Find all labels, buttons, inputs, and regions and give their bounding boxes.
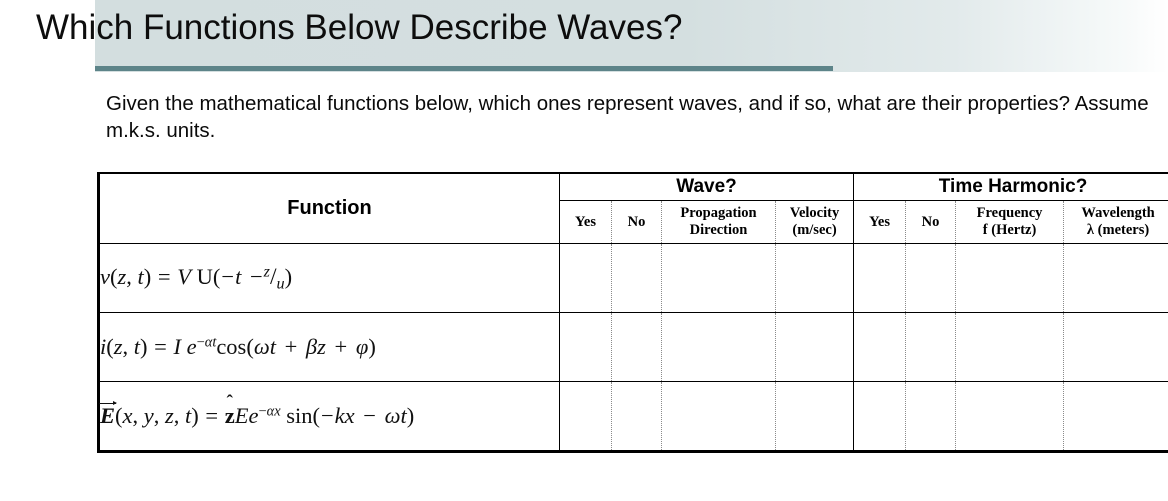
header-propagation-line1: Propagation (662, 205, 775, 222)
formula-damped-current: i(z, t) = I e−αtcos(ωt + βz + φ) (100, 334, 376, 359)
math-z-r2: z (114, 334, 123, 359)
hat-icon: ̂ (225, 393, 235, 412)
function-cell-1: v(z, t) = V U(−t −z/u) (99, 244, 560, 313)
header-propagation-line2: Direction (662, 222, 775, 239)
math-cos: cos (216, 334, 246, 359)
vector-arrow-icon (99, 403, 116, 404)
math-E-amp: E (235, 403, 249, 428)
cell-wave-no-3[interactable] (612, 382, 662, 452)
cell-th-frequency-2[interactable] (956, 313, 1064, 382)
cell-wave-yes-2[interactable] (560, 313, 612, 382)
header-th-no-line1: No (906, 214, 955, 231)
math-y: y (144, 403, 154, 428)
header-th-frequency: Frequency f (Hertz) (956, 201, 1064, 244)
table-row: i(z, t) = I e−αtcos(ωt + βz + φ) (99, 313, 1168, 382)
header-frequency-line2: f (Hertz) (956, 222, 1063, 239)
table-row: v(z, t) = V U(−t −z/u) (99, 244, 1168, 313)
cell-wave-direction-3[interactable] (662, 382, 776, 452)
cell-wave-yes-3[interactable] (560, 382, 612, 452)
math-exp-minus: − (197, 335, 205, 351)
header-wave-yes-line1: Yes (560, 214, 611, 231)
cell-th-yes-3[interactable] (854, 382, 906, 452)
math-phi: φ (356, 334, 368, 359)
intro-paragraph: Given the mathematical functions below, … (106, 90, 1151, 144)
math-plus-1: + (284, 334, 299, 359)
math-e-r3: e (249, 403, 259, 428)
math-minus-r3b: − (362, 403, 377, 428)
function-cell-3: E(x, y, z, t) = ̂zEe−αx sin(−kx − ωt) (99, 382, 560, 452)
cell-wave-direction-1[interactable] (662, 244, 776, 313)
cell-th-wavelength-3[interactable] (1064, 382, 1168, 452)
math-u-den: u (277, 274, 285, 292)
math-minus-2: − (249, 264, 264, 289)
cell-wave-direction-2[interactable] (662, 313, 776, 382)
math-minus-r3a: − (320, 403, 335, 428)
math-z: z (118, 264, 127, 289)
math-E: E (100, 403, 115, 428)
header-wavelength-line2: λ (meters) (1064, 222, 1168, 239)
title-accent-rule (95, 66, 833, 71)
header-velocity-line1: Velocity (776, 205, 853, 222)
header-wave-no-line1: No (612, 214, 661, 231)
unit-vector-z-hat: ̂z (225, 403, 235, 429)
math-plus-2: + (334, 334, 349, 359)
header-th-yes: Yes (854, 201, 906, 244)
math-exp-minus-r3: − (259, 404, 267, 420)
cell-th-frequency-1[interactable] (956, 244, 1064, 313)
math-I: I (174, 334, 182, 359)
cell-wave-velocity-2[interactable] (776, 313, 854, 382)
header-group-wave: Wave? (560, 173, 854, 201)
header-group-time-harmonic: Time Harmonic? (854, 173, 1168, 201)
math-minus-1: − (220, 264, 235, 289)
table-group-header-row: Function Wave? Time Harmonic? (99, 173, 1168, 201)
page-title: Which Functions Below Describe Waves? (36, 8, 682, 48)
formula-e-field: E(x, y, z, t) = ̂zEe−αx sin(−kx − ωt) (100, 403, 414, 428)
header-wave-no: No (612, 201, 662, 244)
cell-th-wavelength-1[interactable] (1064, 244, 1168, 313)
math-z-r3: z (165, 403, 174, 428)
math-omega: ω (254, 334, 270, 359)
header-wavelength-line1: Wavelength (1064, 205, 1168, 222)
vector-E: E (100, 403, 115, 429)
cell-th-yes-1[interactable] (854, 244, 906, 313)
function-cell-2: i(z, t) = I e−αtcos(ωt + βz + φ) (99, 313, 560, 382)
header-th-no: No (906, 201, 956, 244)
header-velocity-line2: (m/sec) (776, 222, 853, 239)
header-frequency-line1: Frequency (956, 205, 1063, 222)
math-v: v (100, 264, 110, 289)
math-V: V (177, 264, 191, 289)
cell-th-wavelength-2[interactable] (1064, 313, 1168, 382)
math-beta: β (306, 334, 317, 359)
cell-th-yes-2[interactable] (854, 313, 906, 382)
math-k: k (335, 403, 345, 428)
cell-th-no-2[interactable] (906, 313, 956, 382)
cell-th-no-3[interactable] (906, 382, 956, 452)
header-wave-velocity: Velocity (m/sec) (776, 201, 854, 244)
math-e: e (187, 334, 197, 359)
cell-wave-no-1[interactable] (612, 244, 662, 313)
cell-wave-no-2[interactable] (612, 313, 662, 382)
cell-wave-velocity-3[interactable] (776, 382, 854, 452)
wave-properties-table: Function Wave? Time Harmonic? Yes No Pro… (97, 172, 1168, 453)
math-omega-r3: ω (385, 403, 401, 428)
math-x-r3b: x (345, 403, 355, 428)
cell-th-no-1[interactable] (906, 244, 956, 313)
cell-th-frequency-3[interactable] (956, 382, 1064, 452)
cell-wave-velocity-1[interactable] (776, 244, 854, 313)
math-sin: sin (286, 403, 312, 428)
formula-voltage-step: v(z, t) = V U(−t −z/u) (100, 264, 292, 289)
math-x: x (123, 403, 133, 428)
header-function: Function (99, 173, 560, 244)
math-z-r2b: z (317, 334, 326, 359)
header-th-yes-line1: Yes (854, 214, 905, 231)
header-th-wavelength: Wavelength λ (meters) (1064, 201, 1168, 244)
cell-wave-yes-1[interactable] (560, 244, 612, 313)
table-row: E(x, y, z, t) = ̂zEe−αx sin(−kx − ωt) (99, 382, 1168, 452)
header-wave-yes: Yes (560, 201, 612, 244)
header-wave-propagation-direction: Propagation Direction (662, 201, 776, 244)
